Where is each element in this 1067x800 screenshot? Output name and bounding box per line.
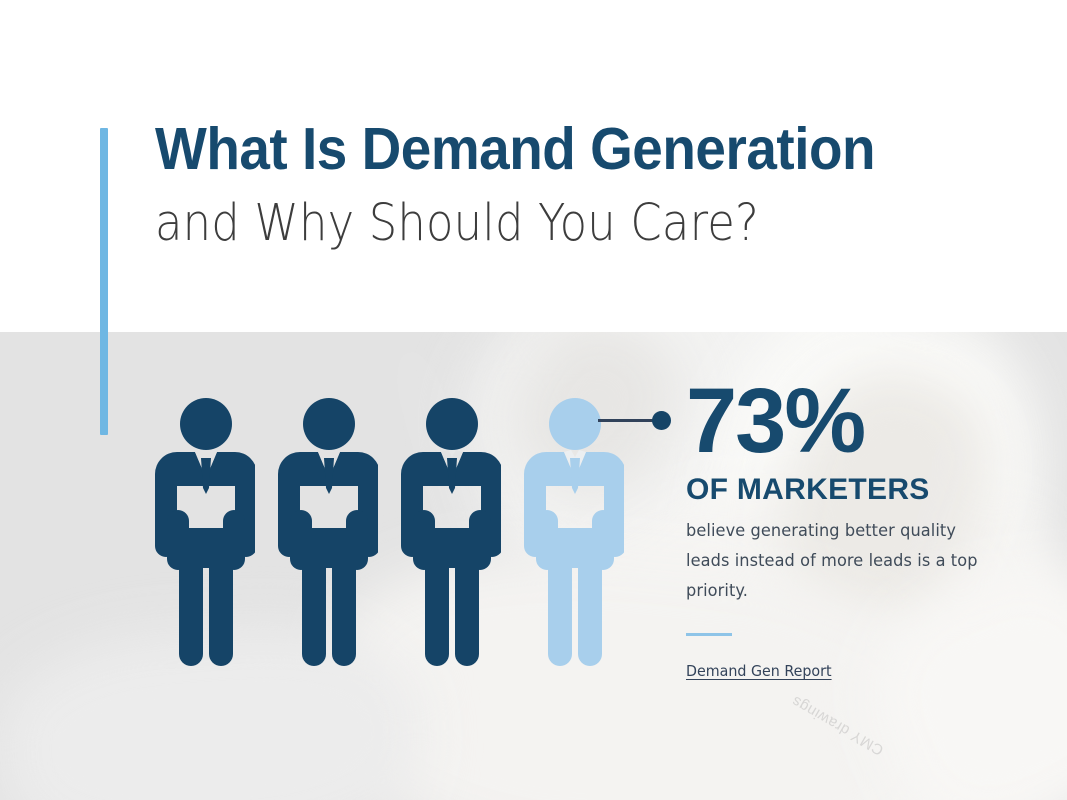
- page-title: What Is Demand Generation: [155, 118, 955, 182]
- businessman-icon-1: [155, 398, 255, 666]
- stat-percentage: 73%: [686, 378, 1016, 465]
- businessman-icon-3: [401, 398, 501, 666]
- businessman-icon-2: [278, 398, 378, 666]
- stat-description: believe generating better quality leads …: [686, 517, 1000, 606]
- connector-dot: [652, 411, 671, 430]
- page-subtitle: and Why Should You Care?: [155, 196, 912, 252]
- stat-label: OF MARKETERS: [686, 473, 1016, 507]
- infographic-canvas: CMY drawings What Is Demand Generation a…: [0, 0, 1067, 800]
- source-link[interactable]: Demand Gen Report: [686, 662, 832, 680]
- header-block: What Is Demand Generation and Why Should…: [155, 118, 1015, 252]
- left-accent-bar: [100, 128, 108, 435]
- businessman-icon-4-highlighted: [524, 398, 624, 666]
- statistic-block: 73% OF MARKETERS believe generating bett…: [686, 378, 1016, 681]
- connector-line: [598, 419, 660, 422]
- stat-divider-rule: [686, 633, 732, 636]
